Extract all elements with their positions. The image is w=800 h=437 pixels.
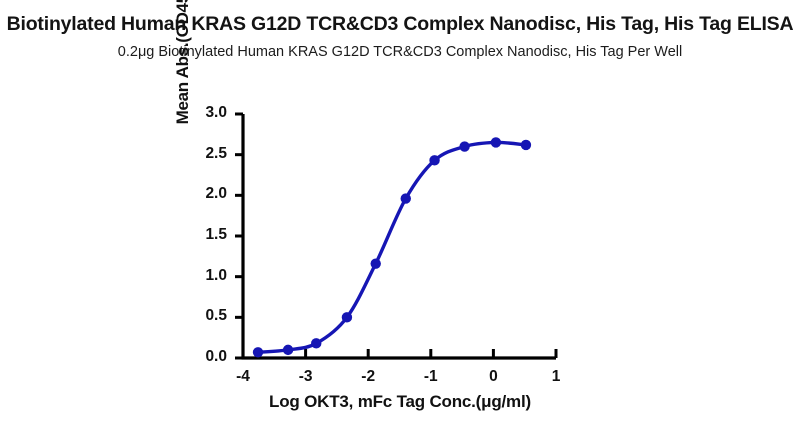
data-point — [253, 347, 263, 357]
data-point — [459, 141, 469, 151]
y-tick-label: 1.5 — [185, 226, 227, 244]
x-tick-label: 0 — [478, 368, 508, 386]
data-point — [491, 137, 501, 147]
y-tick-label: 3.0 — [185, 104, 227, 122]
x-tick-label: 1 — [541, 368, 571, 386]
data-point — [311, 338, 321, 348]
data-point — [342, 312, 352, 322]
y-tick-label: 1.0 — [185, 267, 227, 285]
x-tick-label: -1 — [416, 368, 446, 386]
plot-canvas — [0, 0, 800, 437]
data-series-markers — [253, 137, 531, 357]
elisa-chart-figure: Biotinylated Human KRAS G12D TCR&CD3 Com… — [0, 0, 800, 437]
x-tick-label: -3 — [291, 368, 321, 386]
data-point — [283, 345, 293, 355]
x-axis-label: Log OKT3, mFc Tag Conc.(μg/ml) — [180, 392, 620, 412]
y-tick-label: 2.0 — [185, 185, 227, 203]
y-tick-label: 0.5 — [185, 307, 227, 325]
data-point — [429, 155, 439, 165]
data-point — [401, 193, 411, 203]
data-series-curve — [258, 142, 526, 352]
y-tick-label: 2.5 — [185, 145, 227, 163]
x-tick-label: -4 — [228, 368, 258, 386]
x-tick-label: -2 — [353, 368, 383, 386]
y-tick-label: 0.0 — [185, 348, 227, 366]
data-point — [521, 140, 531, 150]
plot-area: Mean Abs.(OD450) Log OKT3, mFc Tag Conc.… — [0, 0, 800, 437]
data-point — [371, 258, 381, 268]
